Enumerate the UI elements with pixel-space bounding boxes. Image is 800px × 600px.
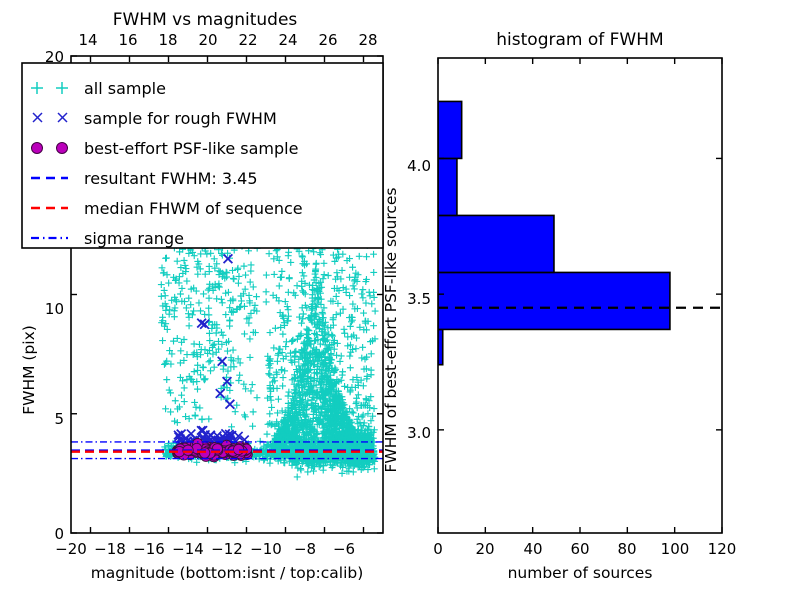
right-panel-xlabel: number of sources bbox=[508, 564, 653, 582]
top-tick-label: 24 bbox=[278, 31, 297, 49]
bottom-tick-label: −8 bbox=[294, 540, 316, 558]
bottom-tick-label: −18 bbox=[94, 540, 126, 558]
top-tick-label: 26 bbox=[318, 31, 337, 49]
top-tick-label: 20 bbox=[198, 31, 217, 49]
figure-canvas: FWHM vs magnitudes 14 16 18 20 22 24 26 … bbox=[0, 0, 800, 600]
top-tick-label: 18 bbox=[158, 31, 177, 49]
y-tick-label: 3.0 bbox=[407, 424, 431, 442]
legend-label: sample for rough FWHM bbox=[84, 109, 277, 128]
x-tick-label: 100 bbox=[661, 540, 690, 558]
y-tick-label: 3.5 bbox=[407, 290, 431, 308]
x-tick-label: 80 bbox=[617, 540, 636, 558]
x-tick-label: 0 bbox=[433, 540, 443, 558]
x-tick-label: 40 bbox=[523, 540, 542, 558]
top-tick-label: 22 bbox=[238, 31, 257, 49]
x-tick-label: 20 bbox=[475, 540, 494, 558]
legend-label: resultant FWHM: 3.45 bbox=[84, 169, 258, 188]
left-panel-right-ylabel: FWHM of best-effort PSF-like sources bbox=[382, 187, 400, 472]
left-panel-xlabel: magnitude (bottom:isnt / top:calib) bbox=[91, 564, 364, 582]
bottom-tick-label: −10 bbox=[250, 540, 282, 558]
y-tick-label: 4.0 bbox=[407, 157, 431, 175]
right-panel-title: histogram of FWHM bbox=[496, 30, 663, 50]
top-tick-label: 14 bbox=[78, 31, 97, 49]
y-tick-label: 10 bbox=[45, 300, 64, 318]
left-panel-title: FWHM vs magnitudes bbox=[113, 10, 298, 30]
top-tick-label: 16 bbox=[118, 31, 137, 49]
bottom-tick-label: −14 bbox=[172, 540, 204, 558]
legend-box[interactable]: all sample sample for rough FWHM best-ef… bbox=[22, 63, 383, 248]
y-tick-label: 5 bbox=[54, 410, 64, 428]
y-tick-label: 0 bbox=[54, 525, 64, 543]
legend-label: best-effort PSF-like sample bbox=[84, 139, 298, 158]
bottom-tick-label: −12 bbox=[211, 540, 243, 558]
x-tick-label: 60 bbox=[570, 540, 589, 558]
legend-label: sigma range bbox=[84, 229, 184, 248]
bottom-tick-label: −6 bbox=[333, 540, 355, 558]
bottom-tick-label: −16 bbox=[133, 540, 165, 558]
x-tick-label: 120 bbox=[708, 540, 737, 558]
left-panel-ylabel: FWHM (pix) bbox=[20, 325, 38, 415]
legend-label: all sample bbox=[84, 79, 166, 98]
legend-label: median FHWM of sequence bbox=[84, 199, 303, 218]
top-tick-label: 28 bbox=[358, 31, 377, 49]
